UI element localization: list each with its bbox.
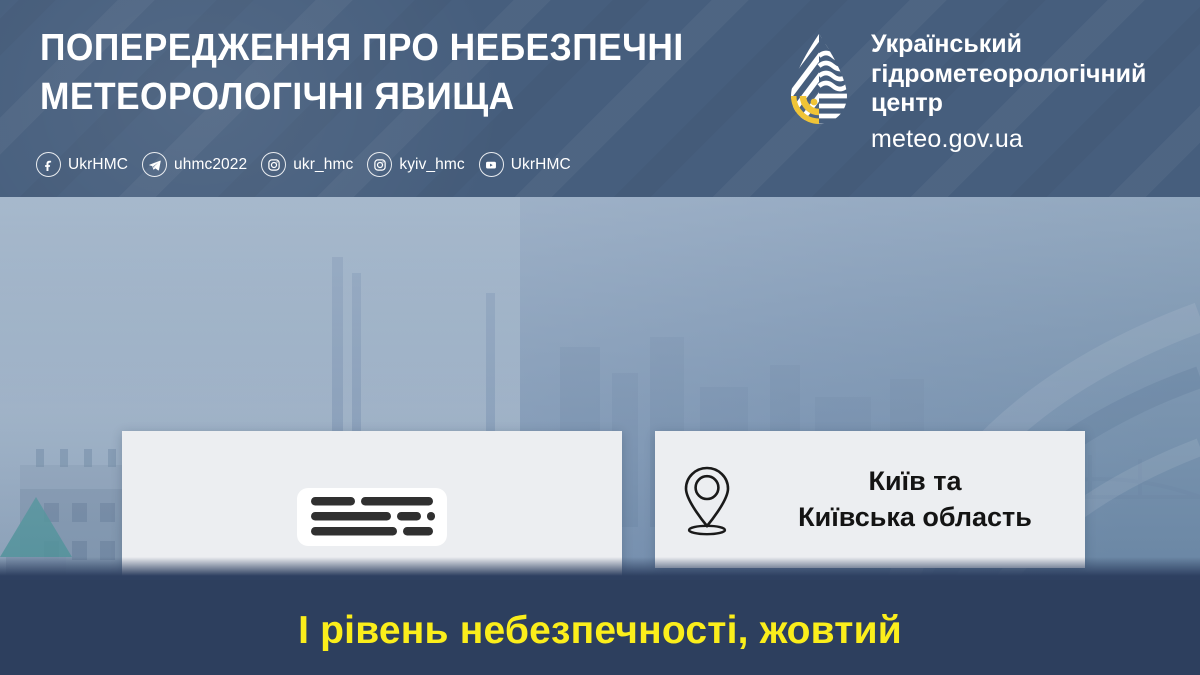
social-handle: kyiv_hmc [399, 156, 464, 174]
social-handle: UkrHMC [511, 156, 571, 174]
social-link-instagram-ukr[interactable]: ukr_hmc [261, 152, 353, 177]
region-card: Київ та Київська область [655, 431, 1085, 568]
social-handle: ukr_hmc [293, 156, 353, 174]
region-name: Київ та Київська область [759, 464, 1085, 534]
instagram-icon [367, 152, 392, 177]
social-link-facebook[interactable]: UkrHMC [36, 152, 128, 177]
social-handle: uhmc2022 [174, 156, 247, 174]
danger-level-text: І рівень небезпечності, жовтий [0, 609, 1200, 653]
social-link-instagram-kyiv[interactable]: kyiv_hmc [367, 152, 464, 177]
region-icon-wrap [655, 464, 759, 536]
facebook-icon [36, 152, 61, 177]
page-title: ПОПЕРЕДЖЕННЯ ПРО НЕБЕЗПЕЧНІ МЕТЕОРОЛОГІЧ… [40, 24, 719, 121]
social-link-youtube[interactable]: UkrHMC [479, 152, 571, 177]
organization-name: Український гідрометеорологічний центр [871, 30, 1146, 119]
ukrhmc-logo[interactable]: Український гідрометеорологічний центр m… [783, 30, 1146, 154]
body-photo-area: Туман, видимість 200-500 м Київ та Київс… [0, 197, 1200, 675]
social-handle: UkrHMC [68, 156, 128, 174]
social-links-row: UkrHMC uhmc2022 ukr_hm [36, 152, 585, 177]
instagram-icon [261, 152, 286, 177]
youtube-icon [479, 152, 504, 177]
social-link-telegram[interactable]: uhmc2022 [142, 152, 247, 177]
weather-warning-poster: ПОПЕРЕДЖЕННЯ ПРО НЕБЕЗПЕЧНІ МЕТЕОРОЛОГІЧ… [0, 0, 1200, 675]
organization-url: meteo.gov.ua [871, 124, 1146, 154]
telegram-icon [142, 152, 167, 177]
water-drop-logo-icon [783, 32, 855, 136]
fog-icon [297, 488, 447, 546]
header-banner: ПОПЕРЕДЖЕННЯ ПРО НЕБЕЗПЕЧНІ МЕТЕОРОЛОГІЧ… [0, 0, 1200, 197]
location-pin-icon [680, 464, 734, 536]
logo-text-block: Український гідрометеорологічний центр m… [871, 30, 1146, 154]
